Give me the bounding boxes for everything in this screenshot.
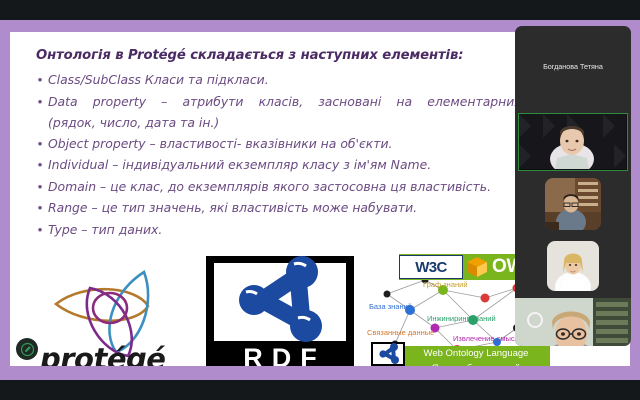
list-item: • Range – це тип значень, які властивіст… (32, 198, 544, 219)
bullet-marker-icon: • (32, 155, 48, 176)
bullet-marker-icon: • (32, 134, 48, 155)
bullet-marker-icon: • (32, 177, 48, 198)
rdf-mini-logo: RDF (371, 342, 405, 366)
bullet-text: Object property – властивості- вказівник… (48, 134, 544, 155)
bullet-text: Class/SubClass Класи та підкласи. (48, 70, 544, 91)
video-tile-participant-4[interactable] (515, 298, 631, 346)
rdf-molecule-icon (224, 256, 336, 348)
list-item: • Class/SubClass Класи та підкласи. (32, 70, 544, 91)
bullet-marker-icon: • (32, 92, 48, 113)
list-item: • Type – тип даних. (32, 220, 544, 241)
rdf-wordmark: RDF (206, 343, 354, 366)
video-sidebar[interactable]: Богданова Тетяна (515, 26, 631, 346)
speaker-name-label: Богданова Тетяна (515, 62, 631, 71)
bullet-text: Individual – індивідуальний екземпляр кл… (48, 155, 544, 176)
protege-wordmark: protégé (40, 342, 200, 366)
graph-label: Извлечение смысла (453, 334, 523, 343)
owl-banner-line-2: Язык веб-онтологий (401, 362, 550, 367)
list-item: • Individual – індивідуальний екземпляр … (32, 155, 544, 176)
participant-thumbnail-2 (545, 178, 601, 230)
participant-video-3 (547, 241, 599, 291)
participant-video-1 (519, 114, 626, 169)
bullet-text: Type – тип даних. (48, 220, 544, 241)
graph-label: Инжиниринг знаний (427, 314, 496, 323)
list-item: • Object property – властивості- вказівн… (32, 134, 544, 155)
participant-thumbnail-3 (547, 241, 599, 291)
owl-banner-line-1: Web Ontology Language (401, 347, 550, 362)
edit-badge[interactable] (16, 338, 38, 360)
owl-cube-icon (465, 255, 489, 279)
rdf-logo: RDF (206, 256, 354, 366)
w3c-logo: W3C (399, 255, 463, 279)
list-item: • Data property – атрибути класів, засно… (32, 92, 544, 134)
bullet-text: Range – це тип значень, які властивість … (48, 198, 544, 219)
bullet-marker-icon: • (32, 198, 48, 219)
graph-label: Граф знаний (423, 280, 468, 289)
pencil-edit-icon (21, 343, 34, 356)
video-tile-active-speaker[interactable] (518, 113, 628, 171)
graph-label: Связанные данные (367, 328, 434, 337)
graph-label: База знаний (369, 302, 412, 311)
video-tile-participant-3[interactable] (518, 240, 628, 292)
slide-bullet-list: • Class/SubClass Класи та підкласи. • Da… (32, 70, 544, 241)
bullet-text-continuation: (рядок, число, дата та ін.) (48, 113, 544, 134)
bullet-text: Domain – це клас, до екземплярів якого з… (48, 177, 544, 198)
screen-root: Онтологія в Protégé складається з наступ… (0, 0, 640, 400)
list-item: • Domain – це клас, до екземплярів якого… (32, 177, 544, 198)
participant-video-4 (515, 298, 631, 346)
video-tile-participant-2[interactable] (518, 176, 628, 232)
bullet-marker-icon: • (32, 220, 48, 241)
slide-title: Онтологія в Protégé складається з наступ… (36, 48, 536, 63)
bullet-text: Data property – атрибути класів, заснова… (48, 92, 544, 113)
participant-video-2 (545, 178, 601, 230)
bullet-marker-icon: • (32, 70, 48, 91)
rdf-molecule-icon (376, 343, 402, 365)
owl-banner: Web Ontology Language Язык веб-онтологий (401, 346, 550, 366)
